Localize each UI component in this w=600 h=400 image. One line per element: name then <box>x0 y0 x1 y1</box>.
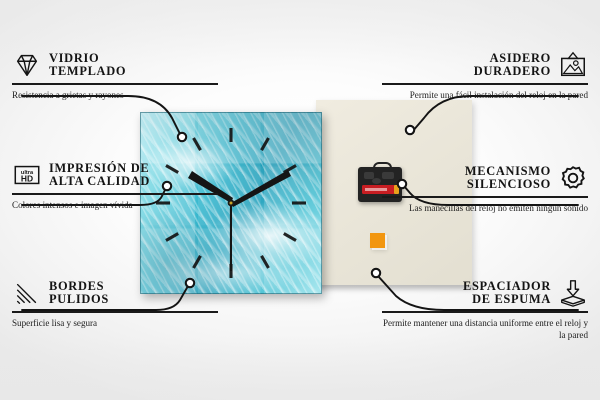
feature-mecanismo-silencioso: MECANISMO SILENCIOSO Las manecillas del … <box>382 163 588 214</box>
divider <box>382 311 588 313</box>
divider <box>12 193 218 195</box>
feature-asidero-duradero: ASIDERO DURADERO Permite una fácil insta… <box>382 50 588 101</box>
feature-title-line2: DURADERO <box>474 65 551 78</box>
feature-title-line2: SILENCIOSO <box>465 178 551 191</box>
infographic-canvas: VIDRIO TEMPLADO Resistencia a grietas y … <box>0 0 600 400</box>
diamond-icon <box>12 50 42 80</box>
wall-frame-hanger-icon <box>558 50 588 80</box>
divider <box>382 83 588 85</box>
feature-title-line2: ALTA CALIDAD <box>49 175 150 188</box>
polished-edges-icon <box>12 278 42 308</box>
feature-title-line2: DE ESPUMA <box>463 293 551 306</box>
feature-title: BORDES PULIDOS <box>49 280 109 305</box>
ultra-hd-icon: ultra HD <box>12 160 42 190</box>
feature-bordes-pulidos: BORDES PULIDOS Superficie lisa y segura <box>12 278 218 329</box>
feature-impresion-alta-calidad: ultra HD IMPRESIÓN DE ALTA CALIDAD Color… <box>12 160 218 211</box>
svg-text:HD: HD <box>21 174 33 184</box>
feature-title: MECANISMO SILENCIOSO <box>465 165 551 190</box>
divider <box>382 196 588 198</box>
feature-description: Superficie lisa y segura <box>12 317 218 329</box>
divider <box>12 311 218 313</box>
feature-description: Permite una fácil instalación del reloj … <box>382 89 588 101</box>
feature-title: ASIDERO DURADERO <box>474 52 551 77</box>
feature-title-line2: PULIDOS <box>49 293 109 306</box>
feature-title: ESPACIADOR DE ESPUMA <box>463 280 551 305</box>
feature-title-line2: TEMPLADO <box>49 65 126 78</box>
feature-description: Permite mantener una distancia uniforme … <box>382 317 588 341</box>
gear-icon <box>558 163 588 193</box>
mechanism-knob-center <box>372 178 381 184</box>
divider <box>12 83 218 85</box>
feature-description: Resistencia a grietas y rayones <box>12 89 218 101</box>
feature-title: VIDRIO TEMPLADO <box>49 52 126 77</box>
feature-description: Las manecillas del reloj no emiten ningú… <box>382 202 588 214</box>
feature-title: IMPRESIÓN DE ALTA CALIDAD <box>49 162 150 187</box>
foam-spacer <box>370 233 385 248</box>
foam-spacer-arrow-icon <box>558 278 588 308</box>
feature-vidrio-templado: VIDRIO TEMPLADO Resistencia a grietas y … <box>12 50 218 101</box>
feature-espaciador-de-espuma: ESPACIADOR DE ESPUMA Permite mantener un… <box>382 278 588 341</box>
feature-description: Colores intensos e imagen vívida <box>12 199 218 211</box>
